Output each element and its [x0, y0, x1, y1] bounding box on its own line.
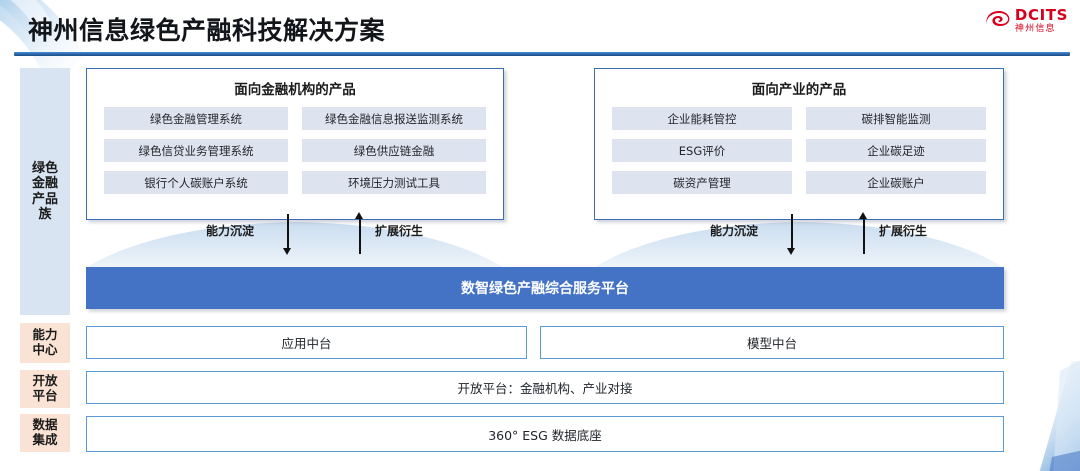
open-platform-box[interactable]: 开放平台：金融机构、产业对接	[86, 371, 1004, 404]
rail-item-open-platform: 开放 平台	[20, 370, 70, 408]
page-title: 神州信息绿色产融科技解决方案	[28, 11, 385, 47]
panel-title: 面向产业的产品	[595, 78, 1003, 98]
flow-label-expansion-derivative-left: 扩展衍生	[375, 222, 423, 239]
rail-label-text: 数据 集成	[32, 418, 57, 448]
rail-item-capability-center: 能力 中心	[20, 323, 70, 363]
flow-arrow-up-left-head	[355, 212, 363, 219]
capability-box-label: 应用中台	[281, 333, 331, 352]
capability-box-application-midend[interactable]: 应用中台	[86, 326, 527, 359]
product-chip[interactable]: 绿色金融管理系统	[104, 107, 288, 130]
panel-product-grid: 绿色金融管理系统 绿色金融信息报送监测系统 绿色信贷业务管理系统 绿色供应链金融…	[87, 107, 503, 206]
header-divider	[14, 52, 1070, 56]
flow-arrow-down-left-head	[283, 248, 291, 255]
product-chip[interactable]: 绿色金融信息报送监测系统	[302, 107, 486, 130]
data-foundation-box[interactable]: 360° ESG 数据底座	[86, 416, 1004, 452]
flow-arrow-down-right-head	[787, 248, 795, 255]
rail-label-text: 绿色 金融 产品 族	[32, 161, 58, 222]
flow-arrow-down-left-line	[287, 214, 289, 250]
flow-label-capability-precipitation-right: 能力沉淀	[710, 222, 758, 239]
capability-box-label: 模型中台	[747, 333, 797, 352]
product-chip[interactable]: 碳资产管理	[612, 171, 792, 194]
platform-bar-label: 数智绿色产融综合服务平台	[461, 278, 629, 298]
product-chip[interactable]: 银行个人碳账户系统	[104, 171, 288, 194]
open-platform-label: 开放平台：金融机构、产业对接	[457, 378, 632, 397]
logo-text-cn: 神州信息	[1015, 25, 1068, 34]
product-chip[interactable]: 环境压力测试工具	[302, 171, 486, 194]
product-chip[interactable]: 碳排智能监测	[806, 107, 986, 130]
panel-industry-products: 面向产业的产品 企业能耗管控 碳排智能监测 ESG评价 企业碳足迹 碳资产管理 …	[594, 68, 1004, 220]
product-chip[interactable]: ESG评价	[612, 139, 792, 162]
flow-arrow-up-right-line	[863, 218, 865, 254]
brand-logo: DCITS 神州信息	[984, 8, 1068, 34]
product-chip[interactable]: 绿色信贷业务管理系统	[104, 139, 288, 162]
product-chip[interactable]: 企业碳账户	[806, 171, 986, 194]
flow-arrow-up-right-head	[859, 212, 867, 219]
data-foundation-label: 360° ESG 数据底座	[488, 425, 602, 444]
logo-text-en: DCITS	[1015, 8, 1068, 23]
product-chip[interactable]: 企业能耗管控	[612, 107, 792, 130]
rail-item-data-integration: 数据 集成	[20, 414, 70, 452]
panel-title: 面向金融机构的产品	[87, 78, 503, 98]
arc-decoration-right	[594, 218, 1004, 268]
flow-label-capability-precipitation-left: 能力沉淀	[206, 222, 254, 239]
rail-label-text: 开放 平台	[32, 374, 57, 404]
flow-arrow-up-left-line	[359, 218, 361, 254]
product-chip[interactable]: 企业碳足迹	[806, 139, 986, 162]
arc-decoration-left	[86, 218, 504, 268]
flow-arrow-down-right-line	[791, 214, 793, 250]
rail-item-green-finance-products: 绿色 金融 产品 族	[20, 68, 70, 315]
panel-product-grid: 企业能耗管控 碳排智能监测 ESG评价 企业碳足迹 碳资产管理 企业碳账户	[595, 107, 1003, 206]
platform-bar: 数智绿色产融综合服务平台	[86, 267, 1004, 309]
rail-label-text: 能力 中心	[32, 328, 57, 358]
panel-financial-institution-products: 面向金融机构的产品 绿色金融管理系统 绿色金融信息报送监测系统 绿色信贷业务管理…	[86, 68, 504, 220]
slide-canvas: 神州信息绿色产融科技解决方案 DCITS 神州信息 绿色 金融 产品 族 能力 …	[0, 0, 1080, 471]
dcits-swoosh-logo-icon	[984, 10, 1010, 32]
capability-box-model-midend[interactable]: 模型中台	[540, 326, 1004, 359]
product-chip[interactable]: 绿色供应链金融	[302, 139, 486, 162]
flow-label-expansion-derivative-right: 扩展衍生	[879, 222, 927, 239]
